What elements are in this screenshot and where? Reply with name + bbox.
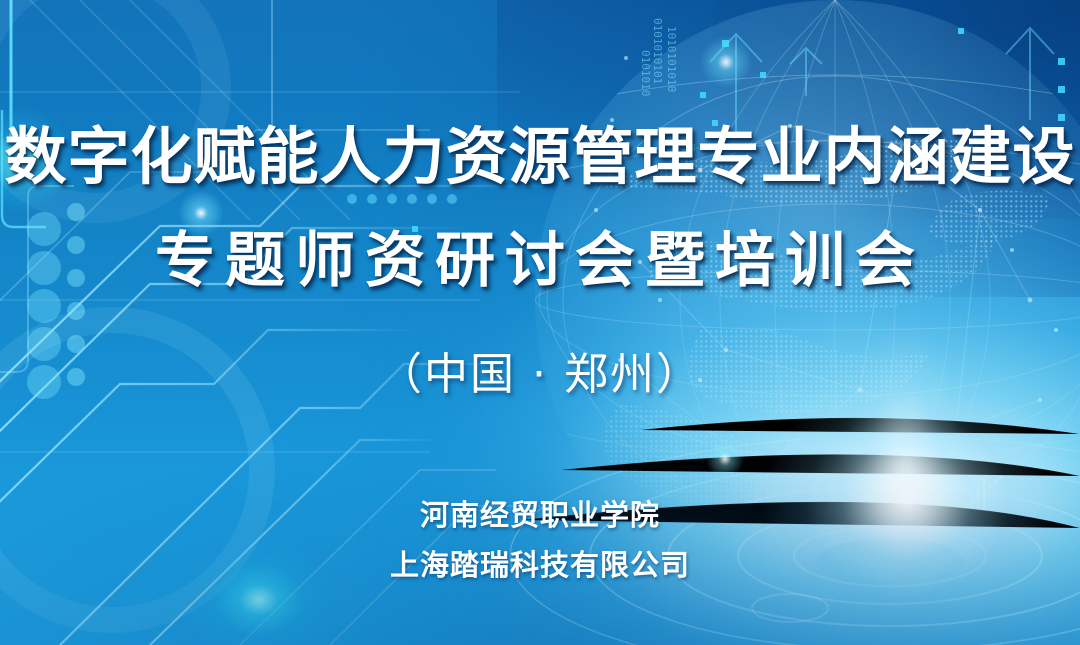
organizer-line-2: 上海踏瑞科技有限公司	[0, 546, 1080, 584]
page-title-line-1: 数字化赋能人力资源管理专业内涵建设	[0, 121, 1080, 193]
organizer-line-1: 河南经贸职业学院	[0, 496, 1080, 534]
conference-banner: 0101010101 1010101010 0101010	[0, 0, 1080, 645]
event-location: （中国 · 郑州）	[0, 347, 1080, 403]
page-title-line-2: 专题师资研讨会暨培训会	[0, 226, 1080, 296]
poster-text-content: 数字化赋能人力资源管理专业内涵建设 专题师资研讨会暨培训会 （中国 · 郑州） …	[0, 0, 1080, 645]
